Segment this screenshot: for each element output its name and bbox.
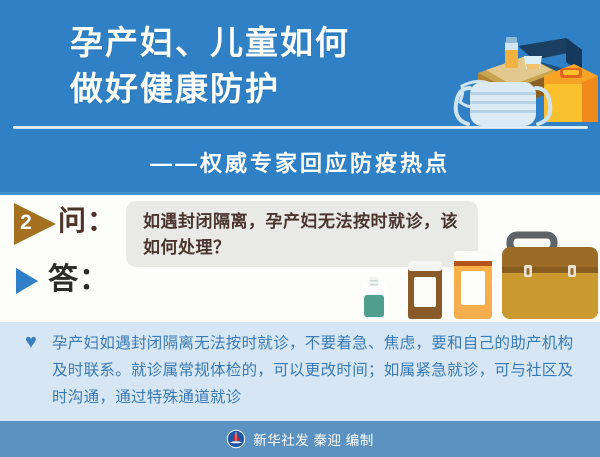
question-number-badge: 2: [14, 203, 58, 245]
footer-credit: 新华社发 秦迎 编制: [253, 429, 374, 449]
poster-footer: 新华社发 秦迎 编制: [0, 421, 600, 457]
title-line-1: 孕产妇、儿童如何: [70, 20, 450, 66]
answer-panel: ♥ 孕产妇如遇封闭隔离无法按时就诊，不要着急、焦虑，要和自己的助产机构及时联系。…: [0, 322, 600, 421]
poster-header: 孕产妇、儿童如何 做好健康防护 ——权威专家回应防疫热点: [0, 0, 600, 195]
qa-section: 2 问： 如遇封闭隔离，孕产妇无法按时就诊，该如何处理？ 答：: [0, 195, 600, 322]
xinhua-logo: [226, 429, 246, 449]
heart-icon: ♥: [25, 334, 43, 351]
answer-text: 孕产妇如遇封闭隔离无法按时就诊，不要着急、焦虑，要和自己的助产机构及时联系。就诊…: [52, 330, 580, 411]
mask-and-medical-boxes-illustration: [448, 28, 598, 133]
question-number: 2: [16, 210, 36, 236]
page-subtitle: ——权威专家回应防疫热点: [0, 146, 600, 178]
infographic-poster: 孕产妇、儿童如何 做好健康防护 ——权威专家回应防疫热点: [0, 0, 600, 457]
title-line-2: 做好健康防护: [70, 66, 450, 112]
question-label: 问：: [58, 203, 116, 239]
answer-triangle-icon: [16, 268, 38, 294]
medicine-bottles-and-doctor-bag-illustration: [358, 227, 600, 322]
page-title: 孕产妇、儿童如何 做好健康防护: [70, 20, 450, 112]
answer-label: 答：: [48, 261, 110, 299]
